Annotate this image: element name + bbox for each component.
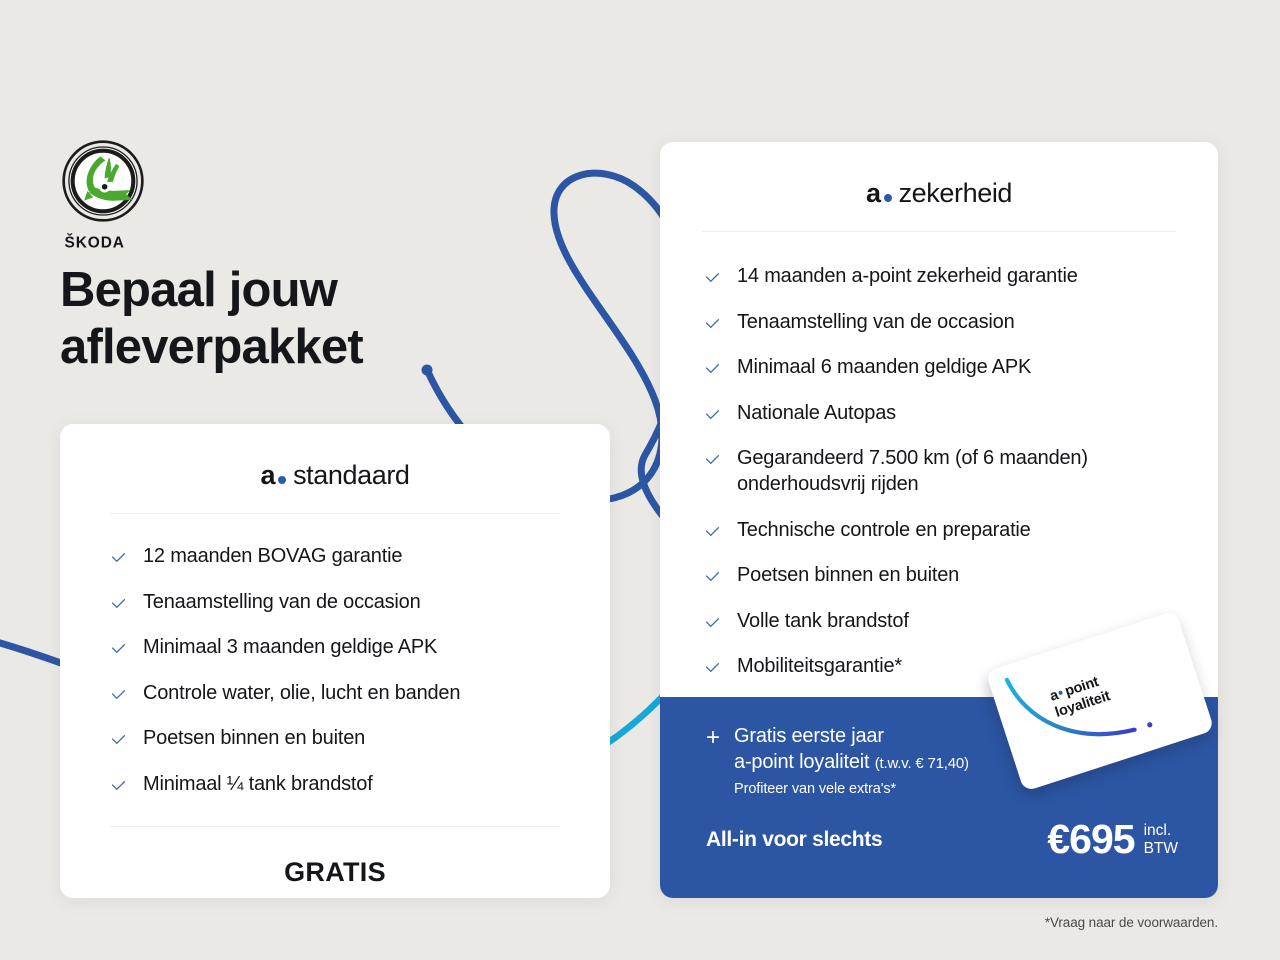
promo-page: ŠKODA Bepaal jouw afleverpakket a standa… bbox=[0, 0, 1280, 960]
check-icon bbox=[704, 523, 721, 540]
price-vat-note: incl. BTW bbox=[1144, 822, 1178, 858]
brand-block: ŠKODA bbox=[62, 140, 158, 251]
check-icon bbox=[704, 269, 721, 286]
a-point-letter: a bbox=[260, 460, 275, 491]
list-item: Technische controle en preparatie bbox=[704, 518, 1218, 544]
check-icon bbox=[110, 777, 127, 794]
list-item-label: 14 maanden a-point zekerheid garantie bbox=[737, 264, 1078, 290]
list-item: Minimaal 3 maanden geldige APK bbox=[110, 635, 610, 661]
list-item: Poetsen binnen en buiten bbox=[110, 726, 610, 752]
svg-text:ŠKODA: ŠKODA bbox=[65, 233, 125, 251]
a-point-letter: a bbox=[866, 178, 881, 209]
zekerheid-feature-list: 14 maanden a-point zekerheid garantie Te… bbox=[704, 264, 1218, 680]
bonus-line-1: Gratis eerste jaar bbox=[734, 723, 969, 749]
check-icon bbox=[704, 568, 721, 585]
standaard-title-divider bbox=[110, 513, 560, 514]
check-icon bbox=[110, 640, 127, 657]
check-icon bbox=[704, 315, 721, 332]
list-item-label: Volle tank brandstof bbox=[737, 609, 909, 635]
list-item: Gegarandeerd 7.500 km (of 6 maanden) ond… bbox=[704, 446, 1218, 497]
loyalty-bonus-block: + Gratis eerste jaar a-point loyaliteit … bbox=[706, 723, 969, 797]
list-item: Minimaal 6 maanden geldige APK bbox=[704, 355, 1218, 381]
list-item: Tenaamstelling van de occasion bbox=[110, 590, 610, 616]
list-item: Poetsen binnen en buiten bbox=[704, 563, 1218, 589]
list-item-label: Minimaal 6 maanden geldige APK bbox=[737, 355, 1031, 381]
bonus-line-2-main: a-point loyaliteit bbox=[734, 751, 869, 773]
check-icon bbox=[110, 731, 127, 748]
standaard-price-divider bbox=[110, 826, 560, 827]
list-item: Minimaal ¼ tank brandstof bbox=[110, 772, 610, 798]
check-icon bbox=[704, 614, 721, 631]
price-amount: €695 bbox=[1047, 819, 1134, 860]
list-item-label: Tenaamstelling van de occasion bbox=[737, 310, 1015, 336]
skoda-logo-icon bbox=[62, 140, 144, 222]
standaard-package-card[interactable]: a standaard 12 maanden BOVAG garantie Te… bbox=[60, 424, 610, 898]
list-item-label: Minimaal ¼ tank brandstof bbox=[143, 772, 373, 798]
list-item-label: Poetsen binnen en buiten bbox=[143, 726, 365, 752]
check-icon bbox=[704, 451, 721, 468]
standaard-price: GRATIS bbox=[60, 857, 610, 888]
price-label: All-in voor slechts bbox=[706, 828, 882, 852]
check-icon bbox=[704, 406, 721, 423]
plus-icon: + bbox=[706, 726, 720, 797]
list-item-label: 12 maanden BOVAG garantie bbox=[143, 544, 402, 570]
check-icon bbox=[110, 686, 127, 703]
price-row: All-in voor slechts €695 incl. BTW bbox=[706, 819, 1178, 860]
zekerheid-title-word: zekerheid bbox=[899, 178, 1012, 209]
check-icon bbox=[704, 360, 721, 377]
list-item-label: Gegarandeerd 7.500 km (of 6 maanden) ond… bbox=[737, 446, 1218, 497]
zekerheid-package-card[interactable]: a zekerheid 14 maanden a-point zekerheid… bbox=[660, 142, 1218, 898]
bonus-line-2-note: (t.w.v. € 71,40) bbox=[875, 755, 969, 772]
list-item: Tenaamstelling van de occasion bbox=[704, 310, 1218, 336]
bonus-line-3: Profiteer van vele extra's* bbox=[734, 781, 969, 797]
list-item-label: Technische controle en preparatie bbox=[737, 518, 1031, 544]
list-item: 14 maanden a-point zekerheid garantie bbox=[704, 264, 1218, 290]
standaard-title-word: standaard bbox=[293, 460, 410, 491]
a-point-dot-icon bbox=[884, 194, 892, 202]
list-item-label: Poetsen binnen en buiten bbox=[737, 563, 959, 589]
list-item: Controle water, olie, lucht en banden bbox=[110, 681, 610, 707]
list-item-label: Minimaal 3 maanden geldige APK bbox=[143, 635, 437, 661]
skoda-wordmark: ŠKODA bbox=[62, 231, 158, 251]
list-item-label: Controle water, olie, lucht en banden bbox=[143, 681, 460, 707]
zekerheid-card-title: a zekerheid bbox=[660, 142, 1218, 209]
disclaimer-text: *Vraag naar de voorwaarden. bbox=[1045, 915, 1218, 930]
list-item: Nationale Autopas bbox=[704, 401, 1218, 427]
a-point-dot-icon bbox=[278, 476, 286, 484]
list-item-label: Nationale Autopas bbox=[737, 401, 896, 427]
standaard-feature-list: 12 maanden BOVAG garantie Tenaamstelling… bbox=[110, 544, 610, 798]
zekerheid-title-divider bbox=[702, 231, 1176, 232]
standaard-card-title: a standaard bbox=[60, 424, 610, 491]
check-icon bbox=[704, 659, 721, 676]
list-item-label: Tenaamstelling van de occasion bbox=[143, 590, 421, 616]
list-item: 12 maanden BOVAG garantie bbox=[110, 544, 610, 570]
list-item-label: Mobiliteitsgarantie* bbox=[737, 654, 902, 680]
loyalty-dot-icon bbox=[1058, 690, 1063, 695]
page-title: Bepaal jouw afleverpakket bbox=[60, 262, 363, 376]
check-icon bbox=[110, 549, 127, 566]
check-icon bbox=[110, 595, 127, 612]
